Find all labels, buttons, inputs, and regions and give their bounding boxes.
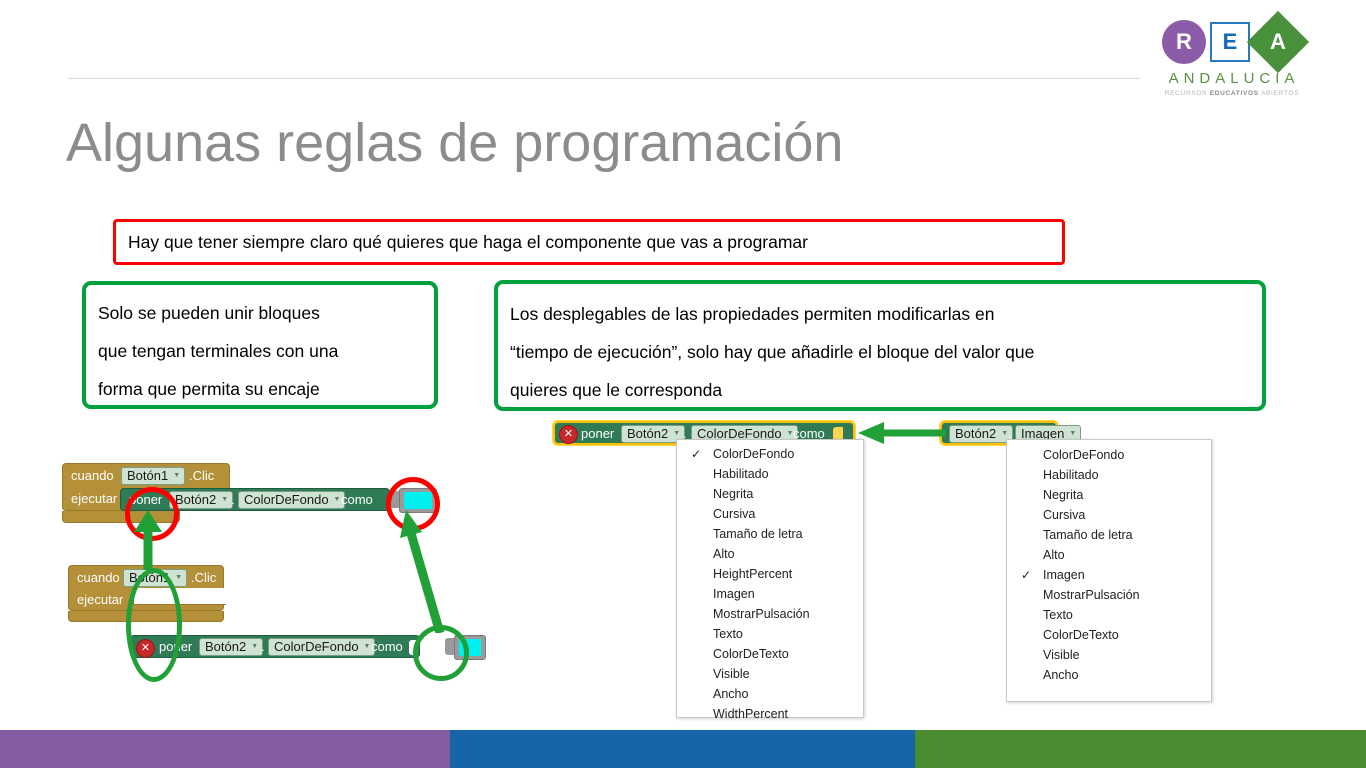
event-do-label: ejecutar (71, 491, 117, 506)
menu-item[interactable]: Cursiva (677, 504, 863, 524)
menu-item[interactable]: Texto (1007, 605, 1211, 625)
getter-component-label: Botón2 (955, 426, 996, 441)
menu-item[interactable]: MostrarPulsación (1007, 585, 1211, 605)
logo-tagline-pre: RECURSOS (1165, 90, 1210, 97)
callout-green-right: Los desplegables de las propiedades perm… (494, 280, 1266, 411)
logo-marks: R E A (1152, 18, 1312, 66)
menu-item-label: Habilitado (713, 467, 769, 481)
menu-item-label: HeightPercent (713, 567, 792, 581)
setter-as-label: como (341, 492, 373, 507)
event-component-label: Botón1 (127, 468, 168, 483)
component-dropdown-label: Botón2 (175, 492, 216, 507)
menu-item-label: Tamaño de letra (1043, 528, 1133, 542)
event-name-label: .Clic (191, 570, 216, 585)
callout-green-right-line-3: quieres que le corresponda (510, 380, 722, 401)
event-when-label: cuando (71, 468, 114, 483)
chevron-down-icon: ▼ (173, 472, 180, 479)
setter-verb-label: poner (581, 426, 614, 441)
menu-item[interactable]: ✓ColorDeFondo (677, 444, 863, 464)
footer-bar-purple (0, 730, 450, 768)
chevron-down-icon: ▼ (251, 643, 258, 650)
menu-item-label: Negrita (1043, 488, 1083, 502)
menu-item[interactable]: ✓Imagen (1007, 565, 1211, 585)
menu-item[interactable]: Negrita (1007, 485, 1211, 505)
logo-tagline: RECURSOS EDUCATIVOS ABIERTOS (1152, 90, 1312, 97)
menu-item[interactable]: Alto (1007, 545, 1211, 565)
footer-bar-blue (450, 730, 915, 768)
logo-tagline-post: ABIERTOS (1259, 90, 1299, 97)
menu-item[interactable]: MostrarPulsación (677, 604, 863, 624)
menu-item[interactable]: Alto (677, 544, 863, 564)
setter-dot-separator: . (231, 492, 235, 507)
menu-item[interactable]: Habilitado (1007, 465, 1211, 485)
menu-item[interactable]: ColorDeTexto (1007, 625, 1211, 645)
menu-item[interactable]: Visible (677, 664, 863, 684)
chevron-down-icon: ▼ (221, 496, 228, 503)
menu-item[interactable]: Negrita (677, 484, 863, 504)
menu-item-label: MostrarPulsación (1043, 588, 1140, 602)
logo-diamond-a: A (1247, 11, 1309, 73)
menu-item[interactable]: Cursiva (1007, 505, 1211, 525)
check-icon: ✓ (1021, 565, 1031, 585)
callout-green-left-line-2: que tengan terminales con una (98, 341, 338, 362)
menu-item-label: ColorDeTexto (713, 647, 789, 661)
highlight-ellipse-socket-bottom (413, 625, 469, 681)
setter-dot-separator: . (261, 639, 265, 654)
menu-item-label: Cursiva (1043, 508, 1085, 522)
event-do-label: ejecutar (77, 592, 123, 607)
menu-item-label: Tamaño de letra (713, 527, 803, 541)
menu-item-label: ColorDeFondo (713, 447, 794, 461)
event-when-label: cuando (77, 570, 120, 585)
callout-green-right-line-1: Los desplegables de las propiedades perm… (510, 304, 994, 325)
callout-green-right-line-2: “tiempo de ejecución”, solo hay que añad… (510, 342, 1034, 363)
component-dropdown-boton2[interactable]: Botón2 ▼ (169, 491, 233, 509)
rea-andalucia-logo: R E A ANDALUCÍA RECURSOS EDUCATIVOS ABIE… (1152, 18, 1312, 98)
menu-item-label: Negrita (713, 487, 753, 501)
menu-item[interactable]: Imagen (677, 584, 863, 604)
menu-item-label: Visible (713, 667, 750, 681)
event-name-label: .Clic (189, 468, 214, 483)
callout-green-left: Solo se pueden unir bloques que tengan t… (82, 281, 438, 409)
logo-square-e: E (1210, 22, 1250, 62)
menu-item-label: Alto (1043, 548, 1065, 562)
menu-item-label: Alto (713, 547, 735, 561)
menu-item[interactable]: ColorDeTexto (677, 644, 863, 664)
property-dropdown-colordefondo[interactable]: ColorDeFondo ▼ (268, 638, 375, 656)
component-dropdown-boton2[interactable]: Botón2 ▼ (199, 638, 263, 656)
menu-item-label: Imagen (1043, 568, 1085, 582)
menu-item[interactable]: HeightPercent (677, 564, 863, 584)
component-dropdown-label: Botón2 (627, 426, 668, 441)
menu-item[interactable]: WidthPercent (677, 704, 863, 724)
property-dropdown-menu-left[interactable]: ✓ColorDeFondo Habilitado Negrita Cursiva… (676, 439, 864, 718)
menu-item-label: Ancho (1043, 668, 1078, 682)
menu-item[interactable]: Visible (1007, 645, 1211, 665)
menu-item-label: Visible (1043, 648, 1080, 662)
menu-item[interactable]: Ancho (677, 684, 863, 704)
logo-circle-r: R (1162, 20, 1206, 64)
menu-item-label: Imagen (713, 587, 755, 601)
check-icon: ✓ (691, 444, 701, 464)
chevron-down-icon: ▼ (175, 574, 182, 581)
page-title: Algunas reglas de programación (66, 112, 843, 174)
menu-item-label: Texto (1043, 608, 1073, 622)
error-badge-icon[interactable]: ✕ (559, 425, 578, 444)
move-socket-arrow-icon (400, 508, 460, 633)
chevron-down-icon: ▼ (334, 496, 341, 503)
logo-wordmark: ANDALUCÍA (1158, 70, 1310, 87)
connect-arrow-icon (854, 422, 946, 444)
callout-red: Hay que tener siempre claro qué quieres … (113, 219, 1065, 265)
menu-item[interactable]: Tamaño de letra (677, 524, 863, 544)
menu-item-label: MostrarPulsación (713, 607, 810, 621)
move-up-arrow-icon (130, 508, 166, 570)
callout-red-text: Hay que tener siempre claro qué quieres … (128, 232, 808, 253)
setter-as-label: como (371, 639, 403, 654)
chevron-down-icon: ▼ (1069, 430, 1076, 437)
logo-letter-a: A (1270, 29, 1286, 55)
logo-tagline-bold: EDUCATIVOS (1210, 90, 1259, 97)
menu-item-label: WidthPercent (713, 707, 788, 721)
getter-component-dropdown-boton2[interactable]: Botón2 ▼ (949, 425, 1013, 443)
menu-item[interactable]: Habilitado (677, 464, 863, 484)
property-dropdown-label: ColorDeFondo (244, 492, 329, 507)
header-divider (68, 78, 1140, 79)
property-dropdown-menu-right[interactable]: ColorDeFondo Habilitado Negrita Cursiva … (1006, 439, 1212, 702)
slide-canvas: R E A ANDALUCÍA RECURSOS EDUCATIVOS ABIE… (0, 0, 1366, 768)
callout-green-left-line-3: forma que permita su encaje (98, 379, 320, 400)
highlight-ellipse-notch-bottom (126, 568, 182, 682)
property-dropdown-colordefondo[interactable]: ColorDeFondo ▼ (238, 491, 345, 509)
menu-item-label: Ancho (713, 687, 748, 701)
footer-bar-green (915, 730, 1366, 768)
chevron-down-icon: ▼ (673, 430, 680, 437)
menu-item[interactable]: ColorDeFondo (1007, 445, 1211, 465)
menu-item[interactable]: Texto (677, 624, 863, 644)
menu-item-label: Cursiva (713, 507, 755, 521)
property-dropdown-label: ColorDeFondo (274, 639, 359, 654)
menu-item[interactable]: Tamaño de letra (1007, 525, 1211, 545)
chevron-down-icon: ▼ (364, 643, 371, 650)
menu-item-label: ColorDeFondo (1043, 448, 1124, 462)
menu-item[interactable]: Ancho (1007, 665, 1211, 685)
component-dropdown-label: Botón2 (205, 639, 246, 654)
menu-item-label: ColorDeTexto (1043, 628, 1119, 642)
menu-item-label: Texto (713, 627, 743, 641)
event-component-dropdown-boton1[interactable]: Botón1 ▼ (121, 467, 185, 485)
menu-item-label: Habilitado (1043, 468, 1099, 482)
callout-green-left-line-1: Solo se pueden unir bloques (98, 303, 320, 324)
